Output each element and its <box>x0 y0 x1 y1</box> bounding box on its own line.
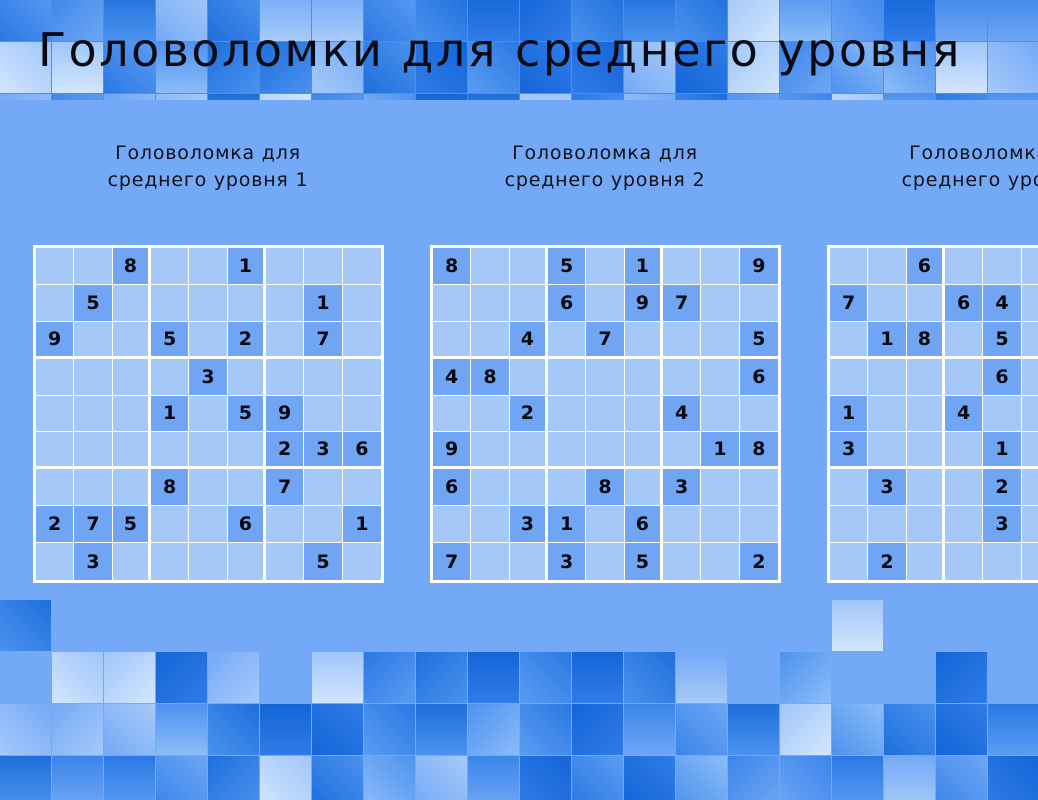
sudoku-cell-given[interactable]: 9 <box>625 285 663 322</box>
sudoku-cell-empty[interactable] <box>343 322 381 359</box>
sudoku-cell-empty[interactable] <box>433 506 471 543</box>
sudoku-cell-empty[interactable] <box>74 359 112 396</box>
sudoku-cell-empty[interactable] <box>510 469 548 506</box>
sudoku-cell-empty[interactable] <box>663 543 701 580</box>
mosaic-tile <box>312 704 363 755</box>
sudoku-cell-empty[interactable] <box>1022 543 1038 580</box>
sudoku-cell-empty[interactable] <box>830 506 868 543</box>
sudoku-cell-empty[interactable] <box>548 322 586 359</box>
sudoku-cell-empty[interactable] <box>304 248 342 285</box>
mosaic-tile <box>416 652 467 703</box>
sudoku-cell-given[interactable]: 2 <box>266 432 304 469</box>
sudoku-cell-empty[interactable] <box>663 432 701 469</box>
sudoku-cell-empty[interactable] <box>510 285 548 322</box>
sudoku-cell-given[interactable]: 8 <box>471 359 509 396</box>
sudoku-cell-empty[interactable] <box>151 543 189 580</box>
sudoku-cell-given[interactable]: 7 <box>586 322 624 359</box>
sudoku-cell-empty[interactable] <box>1022 248 1038 285</box>
mosaic-tile <box>832 704 883 755</box>
sudoku-cell-empty[interactable] <box>36 396 74 433</box>
mosaic-tile <box>364 652 415 703</box>
sudoku-cell-given[interactable]: 6 <box>945 285 983 322</box>
sudoku-cell-empty[interactable] <box>433 396 471 433</box>
sudoku-cell-given[interactable]: 3 <box>189 359 227 396</box>
sudoku-cell-empty[interactable] <box>586 359 624 396</box>
sudoku-cell-empty[interactable] <box>548 432 586 469</box>
mosaic-tile <box>676 756 727 800</box>
bottom-mosaic-pattern <box>0 600 1038 800</box>
sudoku-cell-empty[interactable] <box>304 359 342 396</box>
sudoku-cell-empty[interactable] <box>548 396 586 433</box>
mosaic-tile <box>884 756 935 800</box>
sudoku-cell-empty[interactable] <box>1022 506 1038 543</box>
sudoku-cell-empty[interactable] <box>228 469 266 506</box>
sudoku-cell-empty[interactable] <box>1022 432 1038 469</box>
sudoku-cell-empty[interactable] <box>343 285 381 322</box>
sudoku-cell-empty[interactable] <box>586 396 624 433</box>
mosaic-tile <box>52 704 103 755</box>
mosaic-tile <box>780 704 831 755</box>
sudoku-cell-empty[interactable] <box>36 469 74 506</box>
mosaic-tile <box>832 756 883 800</box>
puzzle-title-2-line1: Головоломка для <box>415 140 795 167</box>
mosaic-tile <box>572 704 623 755</box>
sudoku-grid-1[interactable]: 815195273159236872756135 <box>33 245 384 583</box>
puzzle-title-3-line2: среднего уровня 3 <box>812 167 1038 194</box>
mosaic-tile <box>728 756 779 800</box>
sudoku-cell-empty[interactable] <box>907 285 945 322</box>
sudoku-cell-given[interactable]: 2 <box>510 396 548 433</box>
sudoku-cell-given[interactable]: 3 <box>510 506 548 543</box>
sudoku-cell-empty[interactable] <box>189 543 227 580</box>
sudoku-cell-given[interactable]: 1 <box>983 432 1021 469</box>
sudoku-cell-empty[interactable] <box>907 506 945 543</box>
sudoku-cell-empty[interactable] <box>471 543 509 580</box>
sudoku-cell-empty[interactable] <box>343 396 381 433</box>
sudoku-cell-empty[interactable] <box>189 506 227 543</box>
sudoku-cell-given[interactable]: 6 <box>983 359 1021 396</box>
sudoku-cell-given[interactable]: 9 <box>740 248 778 285</box>
sudoku-cell-empty[interactable] <box>701 396 739 433</box>
sudoku-cell-empty[interactable] <box>663 322 701 359</box>
sudoku-cell-empty[interactable] <box>701 322 739 359</box>
sudoku-cell-empty[interactable] <box>586 506 624 543</box>
sudoku-cell-empty[interactable] <box>74 322 112 359</box>
mosaic-tile <box>312 652 363 703</box>
sudoku-cell-empty[interactable] <box>266 543 304 580</box>
sudoku-cell-given[interactable]: 5 <box>151 322 189 359</box>
sudoku-cell-empty[interactable] <box>1022 322 1038 359</box>
sudoku-cell-given[interactable]: 5 <box>548 248 586 285</box>
sudoku-cell-empty[interactable] <box>548 469 586 506</box>
puzzle-title-2-line2: среднего уровня 2 <box>415 167 795 194</box>
sudoku-cell-empty[interactable] <box>701 285 739 322</box>
sudoku-cell-given[interactable]: 5 <box>228 396 266 433</box>
sudoku-cell-given[interactable]: 1 <box>625 248 663 285</box>
sudoku-cell-empty[interactable] <box>586 248 624 285</box>
sudoku-grid-2[interactable]: 8519697475486249186833167352 <box>430 245 781 583</box>
sudoku-cell-given[interactable]: 7 <box>830 285 868 322</box>
sudoku-cell-given[interactable]: 4 <box>945 396 983 433</box>
sudoku-cell-given[interactable]: 1 <box>343 506 381 543</box>
sudoku-cell-empty[interactable] <box>625 469 663 506</box>
sudoku-cell-given[interactable]: 3 <box>548 543 586 580</box>
puzzle-block-1: Головоломка для среднего уровня 1 815195… <box>18 140 398 194</box>
sudoku-cell-empty[interactable] <box>113 359 151 396</box>
sudoku-cell-empty[interactable] <box>36 432 74 469</box>
sudoku-cell-given[interactable]: 7 <box>304 322 342 359</box>
sudoku-cell-empty[interactable] <box>586 285 624 322</box>
mosaic-tile <box>520 704 571 755</box>
sudoku-cell-empty[interactable] <box>113 543 151 580</box>
sudoku-cell-empty[interactable] <box>343 469 381 506</box>
sudoku-cell-empty[interactable] <box>189 248 227 285</box>
sudoku-grid-3[interactable]: 6764185614313232 <box>827 245 1038 583</box>
mosaic-tile <box>936 652 987 703</box>
sudoku-cell-empty[interactable] <box>586 432 624 469</box>
sudoku-cell-given[interactable]: 9 <box>433 432 471 469</box>
sudoku-cell-empty[interactable] <box>113 396 151 433</box>
sudoku-cell-empty[interactable] <box>36 543 74 580</box>
sudoku-cell-empty[interactable] <box>663 359 701 396</box>
sudoku-cell-given[interactable]: 3 <box>304 432 342 469</box>
mosaic-tile <box>468 756 519 800</box>
sudoku-cell-given[interactable]: 5 <box>983 322 1021 359</box>
sudoku-cell-empty[interactable] <box>471 285 509 322</box>
sudoku-cell-empty[interactable] <box>189 432 227 469</box>
sudoku-cell-empty[interactable] <box>266 506 304 543</box>
mosaic-tile <box>260 704 311 755</box>
puzzle-title-1-line1: Головоломка для <box>18 140 398 167</box>
sudoku-cell-empty[interactable] <box>151 432 189 469</box>
sudoku-cell-empty[interactable] <box>510 432 548 469</box>
sudoku-cell-given[interactable]: 6 <box>343 432 381 469</box>
sudoku-cell-given[interactable]: 8 <box>586 469 624 506</box>
sudoku-cell-empty[interactable] <box>868 396 906 433</box>
sudoku-cell-empty[interactable] <box>586 543 624 580</box>
mosaic-tile <box>156 704 207 755</box>
sudoku-cell-empty[interactable] <box>701 543 739 580</box>
sudoku-cell-given[interactable]: 9 <box>36 322 74 359</box>
mosaic-tile <box>832 600 883 651</box>
mosaic-tile <box>520 652 571 703</box>
sudoku-cell-empty[interactable] <box>74 432 112 469</box>
sudoku-cell-empty[interactable] <box>945 469 983 506</box>
mosaic-tile <box>936 704 987 755</box>
sudoku-cell-empty[interactable] <box>983 248 1021 285</box>
sudoku-cell-empty[interactable] <box>830 469 868 506</box>
sudoku-cell-given[interactable]: 5 <box>74 285 112 322</box>
sudoku-cell-empty[interactable] <box>625 322 663 359</box>
sudoku-cell-empty[interactable] <box>1022 469 1038 506</box>
sudoku-cell-empty[interactable] <box>151 248 189 285</box>
sudoku-cell-empty[interactable] <box>983 543 1021 580</box>
sudoku-cell-empty[interactable] <box>266 285 304 322</box>
sudoku-cell-empty[interactable] <box>266 359 304 396</box>
sudoku-cell-empty[interactable] <box>868 359 906 396</box>
mosaic-tile <box>156 756 207 800</box>
sudoku-cell-empty[interactable] <box>701 469 739 506</box>
puzzle-title-1: Головоломка для среднего уровня 1 <box>18 140 398 194</box>
mosaic-tile <box>624 704 675 755</box>
sudoku-cell-given[interactable]: 3 <box>830 432 868 469</box>
mosaic-tile <box>104 704 155 755</box>
sudoku-cell-empty[interactable] <box>945 248 983 285</box>
mosaic-tile <box>780 756 831 800</box>
sudoku-cell-given[interactable]: 4 <box>510 322 548 359</box>
sudoku-cell-empty[interactable] <box>304 396 342 433</box>
sudoku-cell-empty[interactable] <box>189 469 227 506</box>
sudoku-cell-empty[interactable] <box>510 543 548 580</box>
sudoku-cell-empty[interactable] <box>1022 285 1038 322</box>
mosaic-tile <box>416 704 467 755</box>
sudoku-cell-empty[interactable] <box>868 432 906 469</box>
sudoku-cell-empty[interactable] <box>74 469 112 506</box>
sudoku-cell-given[interactable]: 1 <box>830 396 868 433</box>
sudoku-cell-given[interactable]: 3 <box>663 469 701 506</box>
mosaic-tile <box>988 756 1038 800</box>
sudoku-cell-empty[interactable] <box>74 396 112 433</box>
sudoku-cell-empty[interactable] <box>868 248 906 285</box>
sudoku-cell-empty[interactable] <box>151 506 189 543</box>
sudoku-cell-empty[interactable] <box>1022 359 1038 396</box>
sudoku-cell-given[interactable]: 7 <box>433 543 471 580</box>
sudoku-cell-empty[interactable] <box>151 359 189 396</box>
mosaic-tile <box>468 704 519 755</box>
sudoku-cell-empty[interactable] <box>548 359 586 396</box>
sudoku-cell-given[interactable]: 1 <box>228 248 266 285</box>
page-title: Головоломки для среднего уровня <box>0 0 1038 100</box>
sudoku-cell-empty[interactable] <box>701 359 739 396</box>
sudoku-cell-empty[interactable] <box>625 396 663 433</box>
sudoku-cell-empty[interactable] <box>304 506 342 543</box>
mosaic-tile <box>0 600 51 651</box>
sudoku-cell-empty[interactable] <box>113 285 151 322</box>
sudoku-cell-given[interactable]: 1 <box>548 506 586 543</box>
sudoku-cell-given[interactable]: 5 <box>625 543 663 580</box>
sudoku-cell-empty[interactable] <box>625 359 663 396</box>
sudoku-cell-empty[interactable] <box>740 396 778 433</box>
sudoku-cell-given[interactable]: 8 <box>740 432 778 469</box>
sudoku-cell-empty[interactable] <box>304 469 342 506</box>
mosaic-tile <box>52 652 103 703</box>
slide-page: Головоломки для среднего уровня Головоло… <box>0 0 1038 800</box>
mosaic-tile <box>624 652 675 703</box>
sudoku-cell-empty[interactable] <box>945 506 983 543</box>
sudoku-cell-given[interactable]: 5 <box>740 322 778 359</box>
sudoku-cell-empty[interactable] <box>830 543 868 580</box>
sudoku-cell-given[interactable]: 8 <box>907 322 945 359</box>
puzzle-title-2: Головоломка для среднего уровня 2 <box>415 140 795 194</box>
sudoku-cell-given[interactable]: 6 <box>740 359 778 396</box>
sudoku-cell-given[interactable]: 4 <box>663 396 701 433</box>
puzzle-block-2: Головоломка для среднего уровня 2 851969… <box>415 140 795 194</box>
sudoku-cell-empty[interactable] <box>266 322 304 359</box>
mosaic-tile <box>208 652 259 703</box>
mosaic-tile <box>572 652 623 703</box>
sudoku-cell-given[interactable]: 6 <box>625 506 663 543</box>
sudoku-cell-empty[interactable] <box>228 285 266 322</box>
sudoku-cell-given[interactable]: 6 <box>548 285 586 322</box>
sudoku-cell-empty[interactable] <box>830 248 868 285</box>
puzzle-title-3: Головоломка для среднего уровня 3 <box>812 140 1038 194</box>
sudoku-cell-empty[interactable] <box>36 359 74 396</box>
sudoku-cell-empty[interactable] <box>228 432 266 469</box>
sudoku-cell-given[interactable]: 2 <box>228 322 266 359</box>
mosaic-tile <box>208 756 259 800</box>
mosaic-tile <box>780 652 831 703</box>
sudoku-cell-empty[interactable] <box>907 359 945 396</box>
sudoku-cell-empty[interactable] <box>433 285 471 322</box>
sudoku-cell-empty[interactable] <box>113 322 151 359</box>
puzzle-title-3-line1: Головоломка для <box>812 140 1038 167</box>
sudoku-cell-empty[interactable] <box>343 359 381 396</box>
sudoku-cell-given[interactable]: 1 <box>151 396 189 433</box>
sudoku-cell-empty[interactable] <box>907 432 945 469</box>
sudoku-cell-given[interactable]: 8 <box>151 469 189 506</box>
sudoku-cell-empty[interactable] <box>471 248 509 285</box>
sudoku-cell-given[interactable]: 3 <box>74 543 112 580</box>
sudoku-cell-given[interactable]: 6 <box>228 506 266 543</box>
mosaic-tile <box>208 704 259 755</box>
sudoku-cell-empty[interactable] <box>343 248 381 285</box>
sudoku-cell-given[interactable]: 5 <box>304 543 342 580</box>
sudoku-cell-empty[interactable] <box>868 506 906 543</box>
sudoku-cell-empty[interactable] <box>740 285 778 322</box>
sudoku-cell-empty[interactable] <box>189 322 227 359</box>
mosaic-tile <box>520 756 571 800</box>
sudoku-cell-empty[interactable] <box>510 248 548 285</box>
mosaic-tile <box>260 756 311 800</box>
sudoku-cell-empty[interactable] <box>228 359 266 396</box>
mosaic-tile <box>676 652 727 703</box>
sudoku-cell-given[interactable]: 8 <box>433 248 471 285</box>
sudoku-cell-given[interactable]: 4 <box>983 285 1021 322</box>
sudoku-cell-empty[interactable] <box>510 359 548 396</box>
sudoku-cell-empty[interactable] <box>907 396 945 433</box>
mosaic-tile <box>936 756 987 800</box>
sudoku-cell-empty[interactable] <box>343 543 381 580</box>
sudoku-cell-given[interactable]: 7 <box>663 285 701 322</box>
mosaic-tile <box>0 704 51 755</box>
sudoku-cell-given[interactable]: 1 <box>701 432 739 469</box>
mosaic-tile <box>156 652 207 703</box>
sudoku-cell-empty[interactable] <box>189 396 227 433</box>
mosaic-tile <box>728 704 779 755</box>
mosaic-tile <box>104 652 155 703</box>
sudoku-cell-empty[interactable] <box>740 469 778 506</box>
sudoku-cell-given[interactable]: 7 <box>266 469 304 506</box>
sudoku-cell-empty[interactable] <box>36 248 74 285</box>
sudoku-cell-empty[interactable] <box>868 285 906 322</box>
sudoku-cell-given[interactable]: 3 <box>983 506 1021 543</box>
sudoku-cell-empty[interactable] <box>471 396 509 433</box>
sudoku-cell-given[interactable]: 9 <box>266 396 304 433</box>
mosaic-tile <box>572 756 623 800</box>
sudoku-cell-empty[interactable] <box>471 432 509 469</box>
sudoku-cell-empty[interactable] <box>113 432 151 469</box>
sudoku-cell-empty[interactable] <box>471 506 509 543</box>
sudoku-cell-empty[interactable] <box>983 396 1021 433</box>
mosaic-tile <box>416 756 467 800</box>
sudoku-cell-given[interactable]: 2 <box>868 543 906 580</box>
sudoku-cell-given[interactable]: 1 <box>868 322 906 359</box>
sudoku-cell-empty[interactable] <box>663 248 701 285</box>
sudoku-cell-empty[interactable] <box>663 506 701 543</box>
sudoku-cell-empty[interactable] <box>433 322 471 359</box>
mosaic-tile <box>988 704 1038 755</box>
sudoku-cell-empty[interactable] <box>740 506 778 543</box>
sudoku-cell-given[interactable]: 1 <box>304 285 342 322</box>
sudoku-cell-empty[interactable] <box>945 543 983 580</box>
mosaic-tile <box>312 756 363 800</box>
sudoku-cell-given[interactable]: 7 <box>74 506 112 543</box>
sudoku-cell-empty[interactable] <box>74 248 112 285</box>
sudoku-cell-empty[interactable] <box>471 322 509 359</box>
sudoku-cell-empty[interactable] <box>701 248 739 285</box>
sudoku-cell-empty[interactable] <box>830 359 868 396</box>
sudoku-cell-given[interactable]: 5 <box>113 506 151 543</box>
sudoku-cell-given[interactable]: 2 <box>36 506 74 543</box>
sudoku-cell-empty[interactable] <box>945 359 983 396</box>
sudoku-cell-empty[interactable] <box>945 322 983 359</box>
sudoku-cell-given[interactable]: 8 <box>113 248 151 285</box>
sudoku-cell-empty[interactable] <box>907 543 945 580</box>
sudoku-cell-empty[interactable] <box>113 469 151 506</box>
sudoku-cell-empty[interactable] <box>830 322 868 359</box>
sudoku-cell-given[interactable]: 2 <box>740 543 778 580</box>
sudoku-cell-empty[interactable] <box>189 285 227 322</box>
sudoku-cell-empty[interactable] <box>471 469 509 506</box>
mosaic-tile <box>364 704 415 755</box>
puzzle-title-1-line2: среднего уровня 1 <box>18 167 398 194</box>
sudoku-cell-given[interactable]: 3 <box>868 469 906 506</box>
mosaic-tile <box>364 756 415 800</box>
puzzle-block-3: Головоломка для среднего уровня 3 676418… <box>812 140 1038 194</box>
sudoku-cell-empty[interactable] <box>701 506 739 543</box>
sudoku-cell-empty[interactable] <box>266 248 304 285</box>
sudoku-cell-given[interactable]: 6 <box>433 469 471 506</box>
mosaic-tile <box>468 652 519 703</box>
mosaic-tile <box>676 704 727 755</box>
sudoku-cell-empty[interactable] <box>1022 396 1038 433</box>
sudoku-cell-empty[interactable] <box>907 469 945 506</box>
sudoku-cell-given[interactable]: 2 <box>983 469 1021 506</box>
sudoku-cell-empty[interactable] <box>36 285 74 322</box>
header-band: Головоломки для среднего уровня <box>0 0 1038 100</box>
mosaic-tile <box>52 756 103 800</box>
sudoku-cell-given[interactable]: 6 <box>907 248 945 285</box>
mosaic-tile <box>884 704 935 755</box>
mosaic-tile <box>624 756 675 800</box>
mosaic-tile <box>104 756 155 800</box>
sudoku-cell-empty[interactable] <box>151 285 189 322</box>
sudoku-cell-empty[interactable] <box>945 432 983 469</box>
sudoku-cell-empty[interactable] <box>625 432 663 469</box>
mosaic-tile <box>0 756 51 800</box>
sudoku-cell-given[interactable]: 4 <box>433 359 471 396</box>
sudoku-cell-empty[interactable] <box>228 543 266 580</box>
